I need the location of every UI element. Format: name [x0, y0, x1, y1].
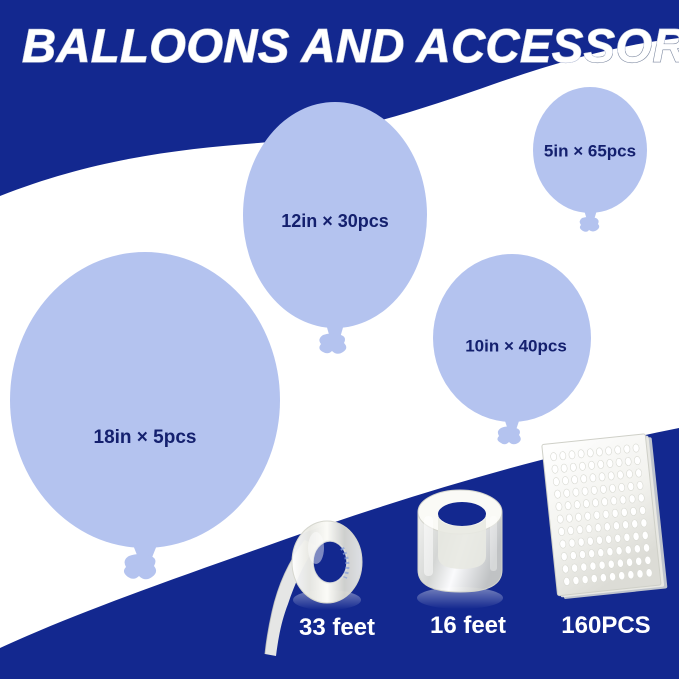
- glue-dot: [553, 477, 560, 486]
- glue-dot: [576, 525, 583, 534]
- glue-dot: [618, 483, 625, 492]
- glue-dot: [617, 559, 624, 568]
- glue-dot: [616, 458, 623, 467]
- glue-dot: [592, 498, 599, 507]
- glue-dot: [637, 569, 644, 578]
- glue-dot: [600, 573, 607, 582]
- glue-dot: [572, 576, 579, 585]
- glue-dot: [552, 465, 559, 474]
- glue-dot: [561, 552, 568, 561]
- glue-dot: [635, 469, 642, 478]
- glue-dot: [579, 462, 586, 471]
- glue-dot: [550, 452, 557, 461]
- balloon-5in-knot: [580, 217, 600, 232]
- tape-33feet-highlight: [308, 532, 324, 564]
- tape-16feet-core-hole: [438, 502, 486, 526]
- glue-dot: [575, 513, 582, 522]
- glue-dot: [627, 570, 634, 579]
- glue-dot: [620, 495, 627, 504]
- glue-dot: [567, 526, 574, 535]
- glue-dot: [626, 558, 633, 567]
- product-infographic-poster: BALLOONS AND ACCESSORIES BALLOONS AND AC…: [0, 0, 679, 679]
- glue-dot: [561, 464, 568, 473]
- glue-dot: [554, 490, 561, 499]
- glue-dot: [558, 527, 565, 536]
- glue-dot: [638, 494, 645, 503]
- glue-dot: [580, 563, 587, 572]
- glue-dot: [621, 508, 628, 517]
- glue-dot: [625, 457, 632, 466]
- glue-dot: [612, 509, 619, 518]
- glue-dot: [644, 556, 651, 565]
- glue-dot: [642, 531, 649, 540]
- glue-dot: [614, 446, 621, 455]
- balloon-18in-body: [10, 252, 280, 548]
- glue-dot: [570, 463, 577, 472]
- glue-dot: [617, 470, 624, 479]
- glue-dot: [623, 533, 630, 542]
- glue-dot: [588, 549, 595, 558]
- balloon-10in-label: 10in × 40pcs: [465, 336, 567, 355]
- glue-dot: [579, 550, 586, 559]
- glue-dot: [570, 551, 577, 560]
- glue-dot: [609, 484, 616, 493]
- glue-dot: [563, 489, 570, 498]
- accessory-labels: 33 feet 16 feet 160PCS: [299, 612, 651, 641]
- glue-dot: [571, 475, 578, 484]
- glue-dot: [643, 543, 650, 552]
- label-16-feet: 16 feet: [430, 612, 506, 639]
- glue-dot: [614, 534, 621, 543]
- tape-16feet-highlight-right: [490, 516, 497, 571]
- glue-dot: [589, 473, 596, 482]
- glue-dot: [608, 471, 615, 480]
- glue-dot: [633, 532, 640, 541]
- glue-dot: [618, 571, 625, 580]
- glue-dot: [597, 548, 604, 557]
- glue-dot: [630, 507, 637, 516]
- glue-dot: [565, 501, 572, 510]
- glue-dot: [582, 487, 589, 496]
- glue-dot: [596, 536, 603, 545]
- glue-dot: [591, 486, 598, 495]
- glue-dot: [606, 459, 613, 468]
- label-160-pcs: 160PCS: [561, 612, 650, 639]
- glue-dot: [623, 445, 630, 454]
- balloon-12in-label: 12in × 30pcs: [281, 211, 389, 231]
- glue-dot: [599, 561, 606, 570]
- accessory-glue-dots-sheet[interactable]: [542, 433, 668, 600]
- balloon-18in-label: 18in × 5pcs: [94, 427, 197, 448]
- balloon-18in-knot: [124, 554, 156, 579]
- glue-dot: [634, 456, 641, 465]
- balloon-10in-knot: [497, 427, 520, 445]
- accessory-tape-roll-16feet[interactable]: [417, 490, 503, 609]
- glue-dot: [629, 494, 636, 503]
- glue-dot: [557, 515, 564, 524]
- glue-dot: [589, 562, 596, 571]
- glue-dot: [587, 537, 594, 546]
- glue-dot: [595, 523, 602, 532]
- glue-dot: [633, 444, 640, 453]
- glue-dot: [627, 482, 634, 491]
- glue-dot: [640, 518, 647, 527]
- glue-dot: [578, 449, 585, 458]
- glue-dot: [559, 540, 566, 549]
- glue-dot: [593, 511, 600, 520]
- glue-dot: [610, 496, 617, 505]
- glue-dot: [588, 461, 595, 470]
- glue-dot: [574, 500, 581, 509]
- glue-dot: [616, 546, 623, 555]
- glue-dot: [637, 481, 644, 490]
- poster-canvas: BALLOONS AND ACCESSORIES BALLOONS AND AC…: [0, 0, 679, 679]
- glue-dot: [587, 448, 594, 457]
- glue-dot: [631, 519, 638, 528]
- glue-dot: [582, 575, 589, 584]
- balloon-5in-label: 5in × 65pcs: [544, 141, 636, 160]
- label-33-feet: 33 feet: [299, 614, 375, 641]
- glue-dot: [569, 450, 576, 459]
- glue-dot: [572, 488, 579, 497]
- glue-dot: [586, 524, 593, 533]
- glue-dot: [569, 539, 576, 548]
- glue-dot: [613, 521, 620, 530]
- glue-dot: [584, 512, 591, 521]
- glue-dot: [566, 514, 573, 523]
- glue-dot: [559, 451, 566, 460]
- glue-dot: [562, 476, 569, 485]
- glue-dot: [626, 470, 633, 479]
- glue-dot: [571, 564, 578, 573]
- poster-title-group: BALLOONS AND ACCESSORIES BALLOONS AND AC…: [22, 19, 679, 72]
- balloon-12in-knot: [319, 334, 346, 354]
- glue-dot: [563, 577, 570, 586]
- glue-dot: [583, 499, 590, 508]
- glue-dot: [646, 568, 653, 577]
- glue-dot: [591, 574, 598, 583]
- glue-dot: [578, 538, 585, 547]
- glue-dot: [625, 545, 632, 554]
- glue-dot: [622, 520, 629, 529]
- glue-dot: [605, 447, 612, 456]
- glue-dot: [635, 557, 642, 566]
- glue-dot: [555, 502, 562, 511]
- glue-dot: [562, 565, 569, 574]
- glue-dot: [639, 506, 646, 515]
- glue-dot: [580, 474, 587, 483]
- tape-16feet-highlight-left: [424, 516, 433, 576]
- glue-dot: [634, 544, 641, 553]
